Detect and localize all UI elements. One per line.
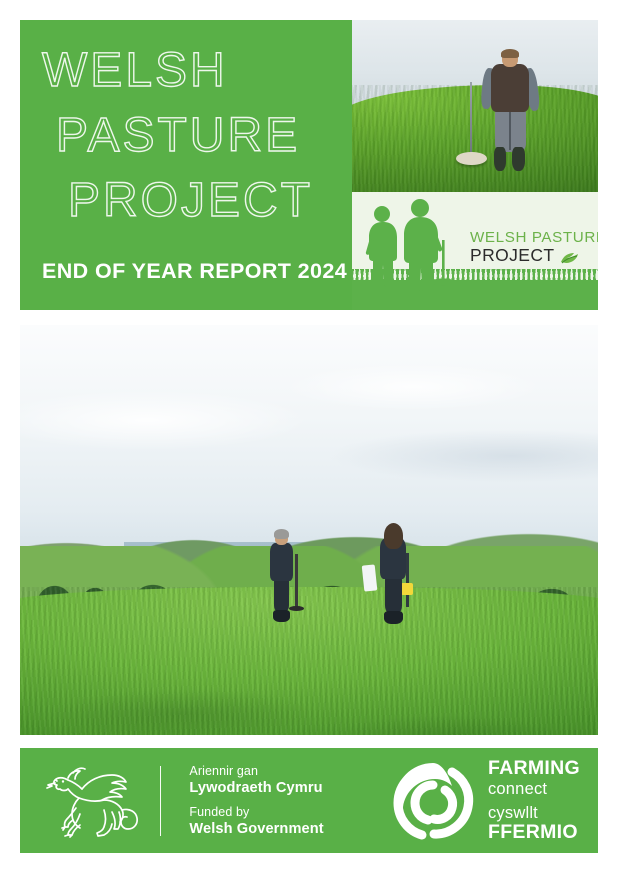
- farming-connect-swirl-icon: [390, 760, 476, 842]
- figure-body: [491, 64, 530, 112]
- title-line-2: PASTURE: [42, 103, 342, 168]
- welsh-government-wordmark: Ariennir gan Lywodraeth Cymru Funded by …: [175, 764, 323, 839]
- logo-line-2: PROJECT: [470, 246, 554, 265]
- title-line-1: WELSH: [42, 38, 342, 103]
- main-photo-sky: [20, 325, 598, 563]
- main-photo-foreground-field: [20, 587, 598, 735]
- sample-bag: [361, 565, 376, 592]
- grass-leaf-icon: [560, 249, 579, 261]
- title-line-3: PROJECT: [42, 168, 342, 233]
- logo-line-2-row: PROJECT: [470, 246, 598, 265]
- welsh-pasture-project-logo: WELSH PASTURE PROJECT: [352, 192, 598, 310]
- photo-grass-field: [352, 85, 598, 192]
- fc-line-1: FARMING: [488, 758, 580, 779]
- plate-meter-shaft: [470, 82, 471, 157]
- main-photo-figure-woman: [375, 526, 411, 624]
- figure-leg-split: [509, 111, 511, 150]
- man-boots: [273, 610, 290, 623]
- photo-main-pasture: [20, 325, 598, 735]
- title-panel: WELSH PASTURE PROJECT END OF YEAR REPORT…: [20, 20, 352, 310]
- footer-bar: Ariennir gan Lywodraeth Cymru Funded by …: [20, 748, 598, 853]
- man-torso: [270, 543, 293, 581]
- photo-farmer-figure: [480, 51, 539, 171]
- logo-line-1: WELSH PASTURE: [470, 230, 598, 246]
- farming-connect-wordmark: FARMING connect cyswllt FFERMIO: [488, 758, 580, 843]
- logo-wordmark: WELSH PASTURE PROJECT: [470, 230, 598, 265]
- main-photo-figure-man: [266, 532, 298, 622]
- fc-line-3: cyswllt: [488, 804, 580, 822]
- wg-english-big: Welsh Government: [189, 820, 323, 838]
- cover-subtitle: END OF YEAR REPORT 2024: [42, 259, 347, 284]
- man-hair: [274, 529, 289, 539]
- soil-probe-handle: [401, 583, 413, 595]
- fc-line-4: FFERMIO: [488, 822, 580, 843]
- wg-english-small: Funded by: [189, 805, 323, 821]
- farming-connect-logo: FARMING connect cyswllt FFERMIO: [390, 760, 580, 842]
- wg-welsh-small: Ariennir gan: [189, 764, 323, 780]
- soil-probe-shaft: [406, 553, 409, 606]
- photo-top-right-plate-meter: [352, 20, 598, 192]
- fc-line-2: connect: [488, 780, 580, 798]
- man-legs: [274, 579, 289, 611]
- figure-legs: [495, 109, 526, 152]
- figure-left-boot: [494, 147, 506, 171]
- woman-legs: [385, 577, 402, 612]
- cover-title: WELSH PASTURE PROJECT: [42, 38, 342, 233]
- logo-divider: [160, 766, 161, 836]
- figure-hair: [501, 49, 520, 59]
- woman-hair: [384, 523, 403, 549]
- plate-meter-disc: [456, 152, 487, 165]
- figure-right-boot: [512, 147, 525, 171]
- wg-welsh-big: Lywodraeth Cymru: [189, 779, 323, 797]
- welsh-dragon-icon: [42, 764, 146, 838]
- welsh-government-logo: Ariennir gan Lywodraeth Cymru Funded by …: [42, 762, 324, 840]
- plate-meter-pole: [295, 554, 298, 608]
- report-cover-page: WELSH PASTURE PROJECT WELSH PASTURE PROJ…: [0, 0, 617, 871]
- woman-boots: [384, 611, 403, 625]
- logo-people-silhouettes: [358, 198, 468, 292]
